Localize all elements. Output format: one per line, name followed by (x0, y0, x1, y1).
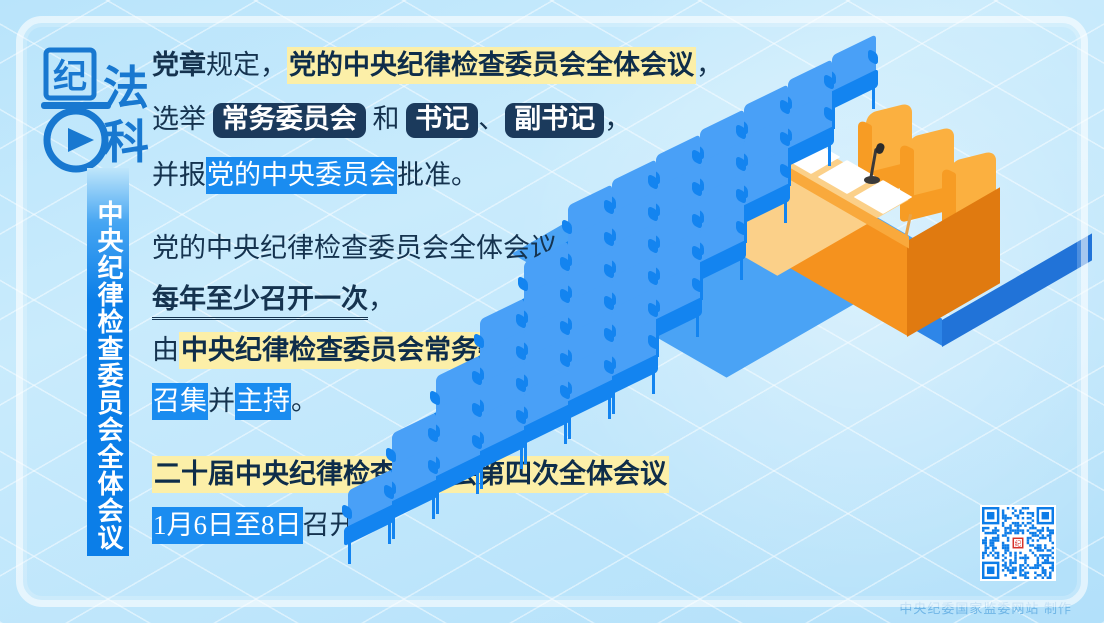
text-run: 、 (478, 104, 505, 134)
infographic-poster: 纪 法 科 中央纪律检查委员会全体会议 党章规定，党的中央纪律检查委员会全体会议… (0, 0, 1104, 623)
svg-text:纪: 纪 (1015, 539, 1022, 548)
svg-text:法: 法 (103, 63, 149, 114)
qr-code[interactable]: 纪 (980, 505, 1056, 581)
text-run: 由 (152, 335, 179, 365)
text-run: 党的中央纪律检查委员会全体会议 (287, 47, 696, 84)
text-run: 党章 (152, 50, 206, 80)
audience-chair (340, 480, 400, 566)
text-run: 召集 (152, 383, 208, 420)
text-run: 和 (366, 104, 407, 134)
text-run: 党的中央委员会 (206, 157, 397, 194)
svg-text:科: 科 (103, 117, 149, 168)
microphone-base-icon (864, 176, 880, 184)
text-run: 每年至少召开一次 (152, 284, 368, 320)
vertical-title-text: 中央纪律检查委员会全体会议 (95, 200, 121, 552)
text-run: 。 (291, 386, 318, 416)
footer-credit: 中央纪委国家监委网站 制作 (899, 598, 1072, 617)
vertical-title-strip: 中央纪律检查委员会全体会议 (87, 168, 129, 556)
text-run: 选举 (152, 104, 213, 134)
text-run: ， (696, 50, 723, 80)
text-run: 批准。 (397, 160, 478, 190)
text-run: 主持 (235, 383, 291, 420)
svg-text:纪: 纪 (53, 58, 87, 96)
text-line: 1月6日至8日召开。 (152, 512, 752, 539)
text-run: ， (368, 284, 395, 314)
text-run: 副书记 (505, 103, 604, 138)
text-line: 选举 常务委员会 和 书记、副书记， (152, 103, 752, 138)
text-run: 规定， (206, 50, 287, 80)
site-logo[interactable]: 纪 法 科 (38, 46, 150, 176)
text-run: 并报 (152, 160, 206, 190)
text-run: 1月6日至8日 (152, 507, 303, 544)
text-run: ， (604, 104, 631, 134)
text-run: 书记 (406, 103, 478, 138)
text-line: 党章规定，党的中央纪律检查委员会全体会议， (152, 52, 752, 79)
text-run: 常务委员会 (213, 103, 366, 138)
text-run: 党的中央纪律检查委员会全体会议 (152, 233, 557, 263)
text-run: 并 (208, 386, 235, 416)
